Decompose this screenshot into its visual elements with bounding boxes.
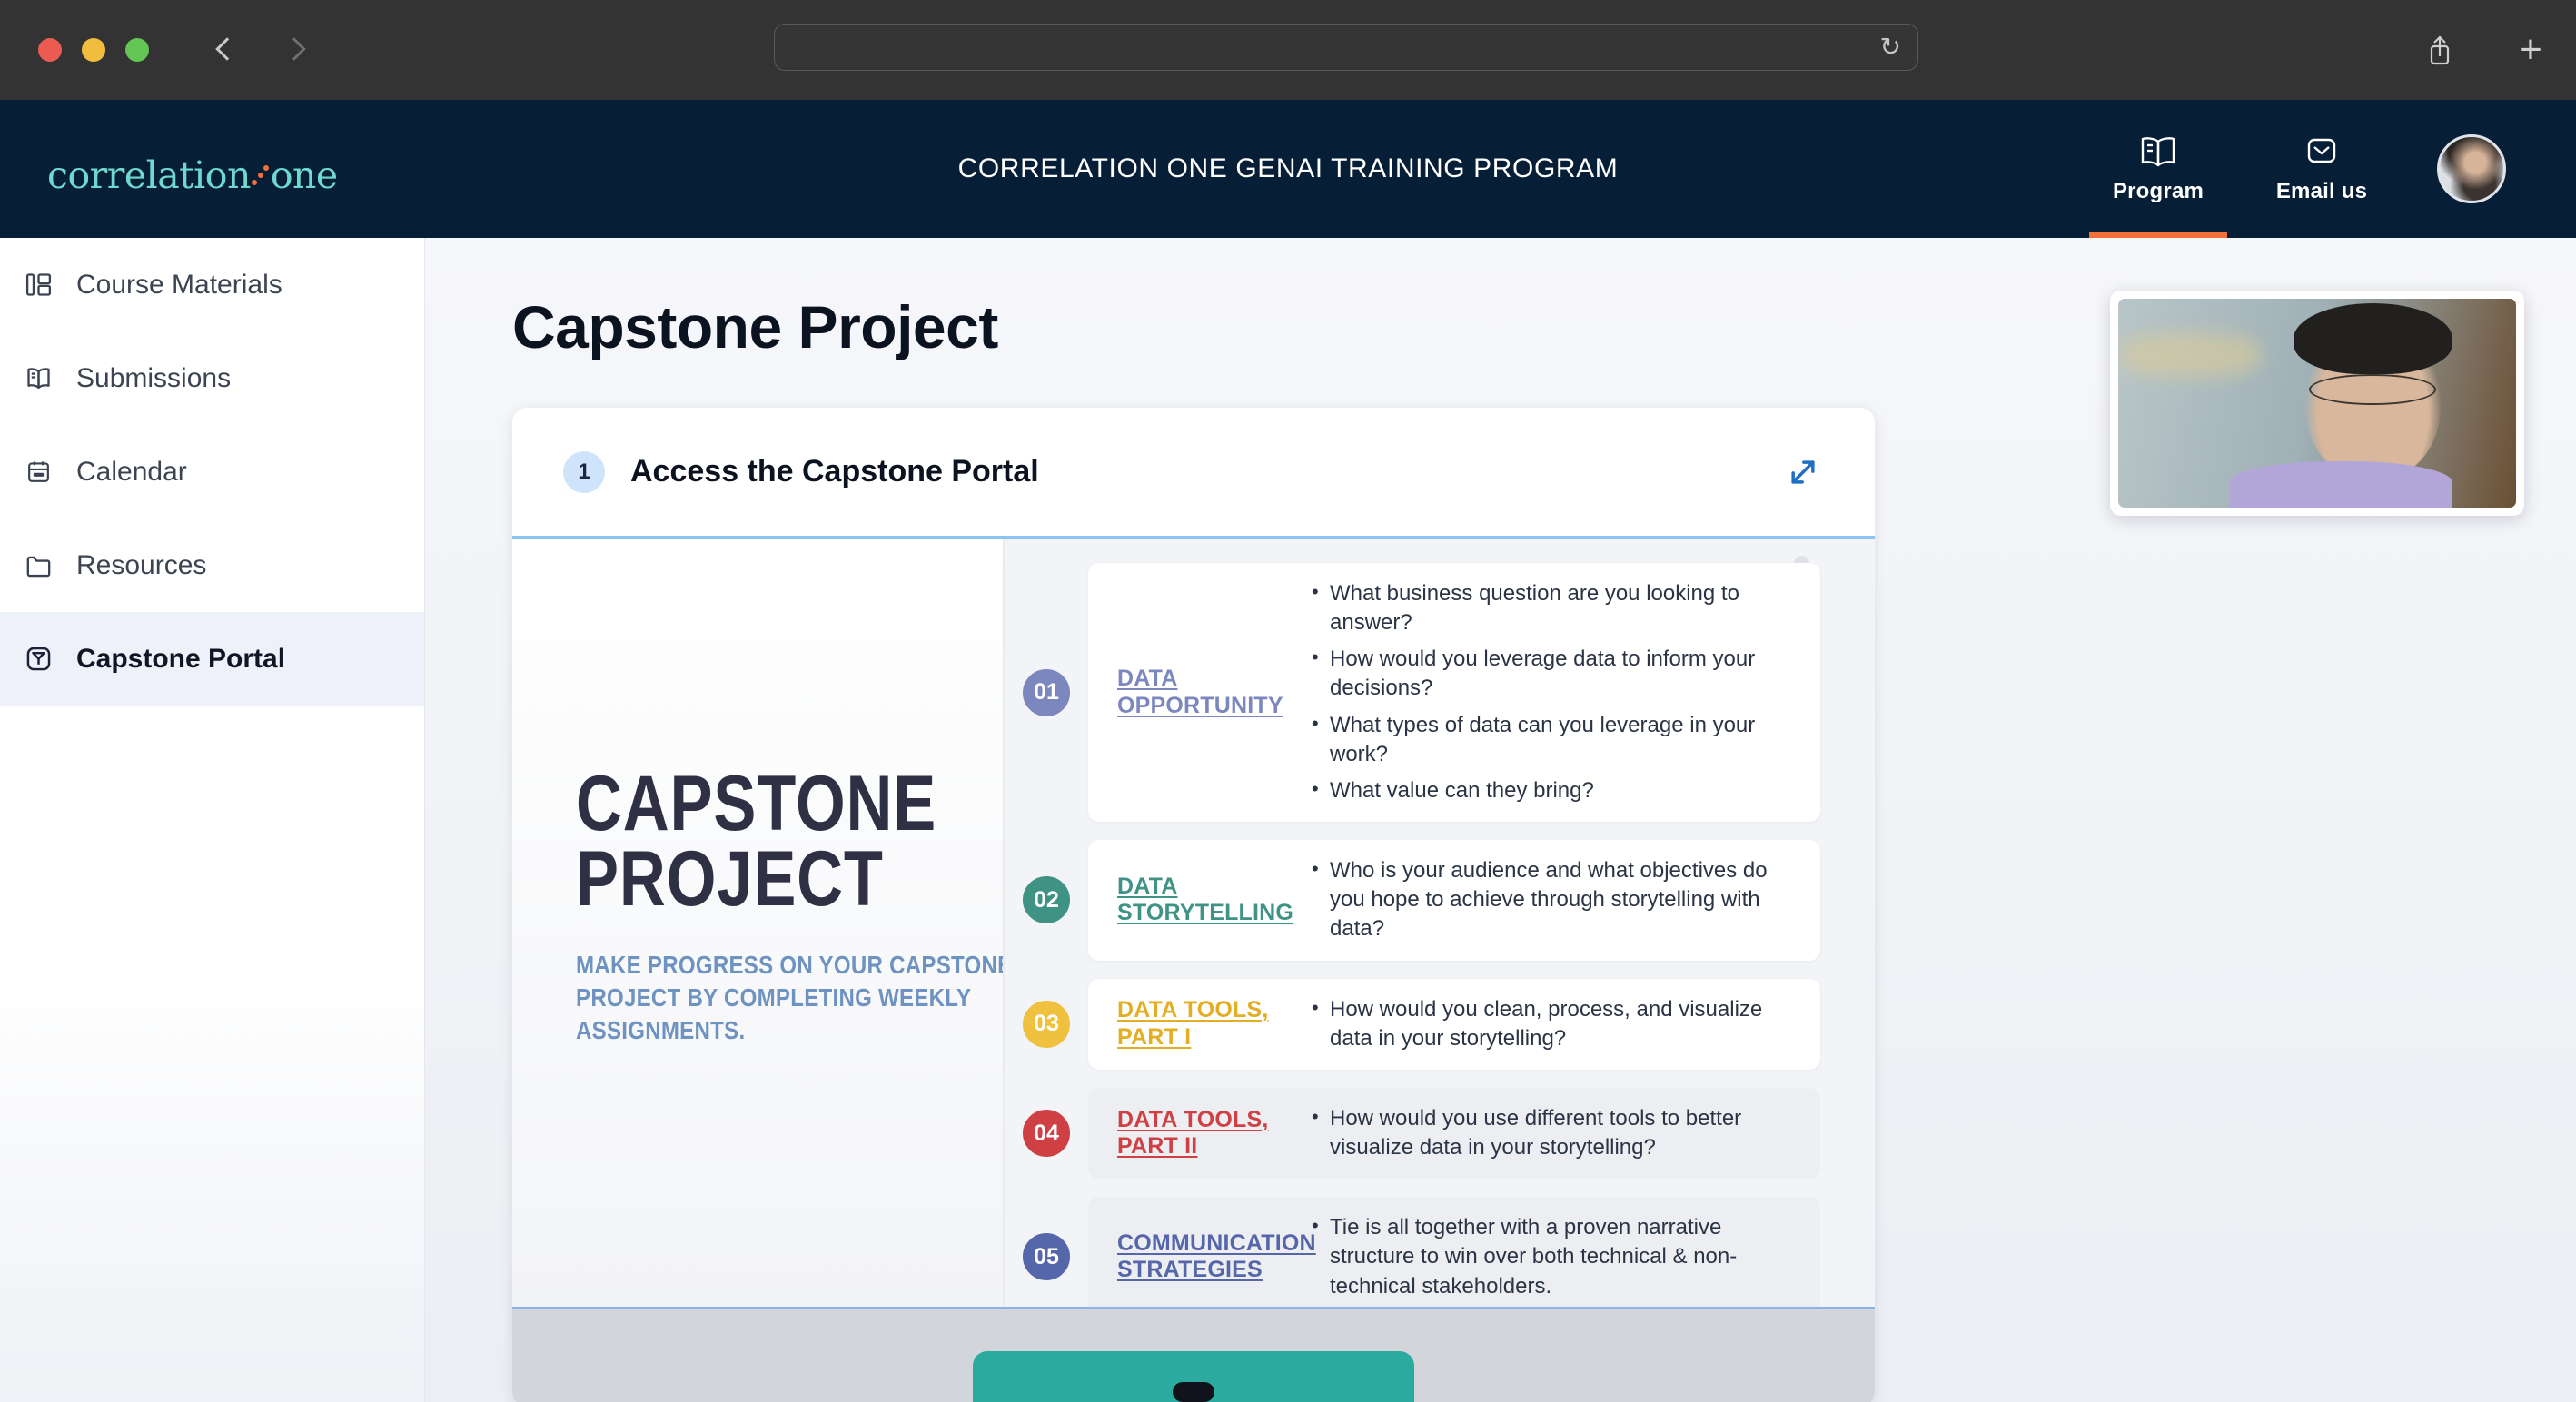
list-item: How would you leverage data to inform yo… bbox=[1312, 645, 1797, 703]
page-title: Capstone Project bbox=[512, 292, 998, 361]
sidebar-item-capstone-portal-label: Capstone Portal bbox=[76, 644, 285, 675]
step-label: DATA OPPORTUNITY bbox=[1117, 666, 1295, 719]
sidebar-item-submissions-label: Submissions bbox=[76, 363, 231, 394]
step-label: COMMUNICATION STRATEGIES bbox=[1117, 1230, 1295, 1284]
sidebar-item-course-materials-label: Course Materials bbox=[76, 270, 282, 301]
step-bullets: Who is your audience and what objectives… bbox=[1295, 856, 1797, 943]
presenter-shirt bbox=[2230, 461, 2452, 508]
step-bullets: Tie is all together with a proven narrat… bbox=[1295, 1213, 1797, 1300]
list-item: 01 DATA OPPORTUNITY What business questi… bbox=[1088, 563, 1820, 822]
open-book-icon bbox=[2137, 133, 2179, 170]
sidebar-item-submissions[interactable]: Submissions bbox=[0, 331, 424, 425]
step-label: DATA TOOLS, PART I bbox=[1117, 997, 1295, 1051]
share-button[interactable] bbox=[2394, 0, 2485, 100]
sidebar-item-resources-label: Resources bbox=[76, 550, 206, 581]
window-minimize-button[interactable] bbox=[82, 38, 105, 62]
slide-right-panel: 01 DATA OPPORTUNITY What business questi… bbox=[1003, 539, 1875, 1307]
card-footer bbox=[512, 1307, 1875, 1402]
back-icon[interactable] bbox=[213, 38, 236, 62]
list-item: Tie is all together with a proven narrat… bbox=[1312, 1213, 1797, 1300]
sidebar-item-course-materials[interactable]: Course Materials bbox=[0, 238, 424, 331]
brand-logo[interactable]: correlationone bbox=[47, 151, 338, 197]
card-title: Access the Capstone Portal bbox=[630, 454, 1039, 489]
nav-item-program-label: Program bbox=[2113, 179, 2204, 204]
slide-subtitle: MAKE PROGRESS ON YOUR CAPSTONE PROJECT B… bbox=[576, 949, 1014, 1046]
capstone-step-card: 1 Access the Capstone Portal CAPSTONE PR… bbox=[512, 408, 1875, 1402]
step-bullets: How would you clean, process, and visual… bbox=[1295, 995, 1797, 1053]
list-item: 02 DATA STORYTELLING Who is your audienc… bbox=[1088, 840, 1820, 960]
presenter-glasses bbox=[2309, 374, 2436, 406]
envelope-icon bbox=[2301, 133, 2343, 170]
presenter-video-overlay[interactable] bbox=[2110, 291, 2524, 516]
step-bullets: How would you use different tools to bet… bbox=[1295, 1104, 1797, 1162]
reload-icon[interactable]: ↻ bbox=[1880, 35, 1901, 60]
list-item: How would you use different tools to bet… bbox=[1312, 1104, 1797, 1162]
new-tab-button[interactable]: + bbox=[2485, 0, 2576, 100]
capstone-portal-cta-button[interactable] bbox=[973, 1351, 1414, 1402]
sidebar-item-calendar-label: Calendar bbox=[76, 457, 187, 488]
step-label: DATA STORYTELLING bbox=[1117, 874, 1295, 927]
capstone-slide-image: CAPSTONE PROJECT MAKE PROGRESS ON YOUR C… bbox=[512, 539, 1875, 1307]
open-book-icon bbox=[22, 362, 54, 395]
list-item: What types of data can you leverage in y… bbox=[1312, 711, 1797, 769]
logo-text-main: correlation bbox=[47, 153, 251, 197]
status-badge: 1 bbox=[563, 451, 605, 493]
browser-toolbar-right: + bbox=[2394, 0, 2576, 100]
header-nav: Program Email us bbox=[2076, 100, 2540, 238]
expand-diagonal-icon bbox=[1785, 454, 1821, 490]
share-icon bbox=[2426, 35, 2453, 65]
three-dots-icon bbox=[251, 151, 271, 188]
list-item: What business question are you looking t… bbox=[1312, 579, 1797, 637]
app-header: correlationone CORRELATION ONE GENAI TRA… bbox=[0, 100, 2576, 238]
expand-button[interactable] bbox=[1778, 448, 1828, 497]
step-label: DATA TOOLS, PART II bbox=[1117, 1107, 1295, 1160]
video-background-blur bbox=[2118, 332, 2262, 379]
card-header: 1 Access the Capstone Portal bbox=[512, 408, 1875, 539]
sidebar: Course Materials Submissions Calendar bbox=[0, 238, 425, 1402]
browser-chrome: ↻ + bbox=[0, 0, 2576, 100]
plus-icon: + bbox=[2519, 30, 2542, 70]
slide-headline: CAPSTONE PROJECT bbox=[576, 766, 926, 916]
list-item: 05 COMMUNICATION STRATEGIES Tie is all t… bbox=[1088, 1197, 1820, 1317]
step-number-badge: 03 bbox=[1019, 997, 1074, 1051]
logo-text-suffix: one bbox=[271, 153, 338, 197]
avatar bbox=[2437, 134, 2506, 203]
step-number-badge: 05 bbox=[1019, 1229, 1074, 1284]
forward-icon[interactable] bbox=[283, 38, 307, 62]
list-item: How would you clean, process, and visual… bbox=[1312, 995, 1797, 1053]
presenter-video-frame bbox=[2118, 299, 2516, 508]
browser-nav-arrows bbox=[213, 38, 307, 62]
presenter-hair bbox=[2294, 303, 2452, 374]
cta-glyph-icon bbox=[1173, 1382, 1214, 1402]
step-bullets: What business question are you looking t… bbox=[1295, 579, 1797, 805]
step-number-badge: 01 bbox=[1019, 666, 1074, 720]
slide-left-panel: CAPSTONE PROJECT MAKE PROGRESS ON YOUR C… bbox=[512, 539, 1003, 1307]
list-item: 03 DATA TOOLS, PART I How would you clea… bbox=[1088, 979, 1820, 1070]
sidebar-item-resources[interactable]: Resources bbox=[0, 518, 424, 612]
calendar-icon bbox=[22, 456, 54, 489]
list-item: Who is your audience and what objectives… bbox=[1312, 856, 1797, 943]
list-item: What value can they bring? bbox=[1312, 776, 1797, 805]
avatar-button[interactable] bbox=[2403, 100, 2540, 238]
window-traffic-lights bbox=[38, 38, 149, 62]
slide-steps-list: 01 DATA OPPORTUNITY What business questi… bbox=[1005, 563, 1820, 1318]
step-number-badge: 02 bbox=[1019, 873, 1074, 927]
address-bar[interactable]: ↻ bbox=[774, 24, 1918, 71]
step-number-badge: 04 bbox=[1019, 1106, 1074, 1160]
nav-item-email-us-label: Email us bbox=[2276, 179, 2367, 204]
nav-item-program[interactable]: Program bbox=[2076, 100, 2240, 238]
window-maximize-button[interactable] bbox=[125, 38, 149, 62]
list-item: 04 DATA TOOLS, PART II How would you use… bbox=[1088, 1088, 1820, 1179]
folder-icon bbox=[22, 549, 54, 582]
course-materials-icon bbox=[22, 269, 54, 301]
sidebar-item-calendar[interactable]: Calendar bbox=[0, 425, 424, 518]
capstone-trophy-icon bbox=[22, 643, 54, 676]
nav-item-email-us[interactable]: Email us bbox=[2240, 100, 2403, 238]
sidebar-item-capstone-portal[interactable]: Capstone Portal bbox=[0, 612, 424, 706]
window-close-button[interactable] bbox=[38, 38, 62, 62]
